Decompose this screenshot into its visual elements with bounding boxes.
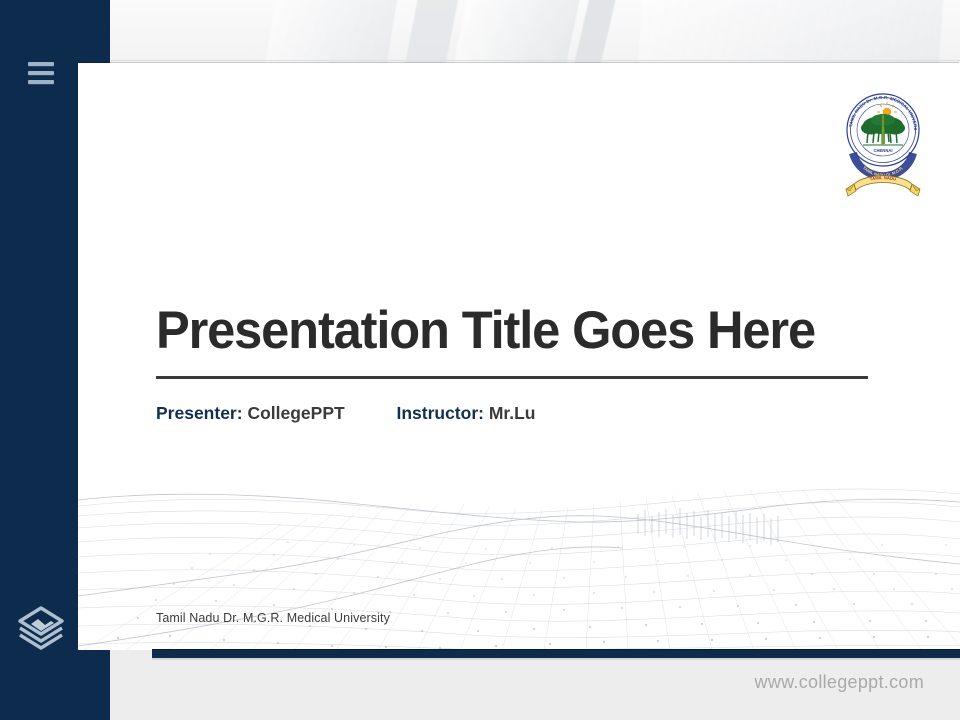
hamburger-line-3 [28, 80, 54, 84]
page-title: Presentation Title Goes Here [156, 303, 838, 359]
seal-ring-text-bottom: CHENNAI [873, 148, 892, 153]
ribbon-shape-5 [633, 0, 948, 64]
hamburger-line-2 [28, 71, 54, 75]
top-decorative-band [110, 0, 960, 64]
instructor-value: Mr.Lu [489, 403, 536, 423]
slide-footer-text: Tamil Nadu Dr. M.G.R. Medical University [156, 611, 390, 625]
title-underline-rule [156, 376, 868, 379]
bottom-navy-strip-shadow [152, 658, 960, 660]
slide-canvas[interactable]: THE TAMIL NADU Dr. M.G.R. MEDICAL UNIVER… [78, 63, 960, 650]
university-seal-logo: THE TAMIL NADU Dr. M.G.R. MEDICAL UNIVER… [838, 85, 928, 210]
instructor-label: Instructor: [396, 403, 484, 423]
app-window: THE TAMIL NADU Dr. M.G.R. MEDICAL UNIVER… [0, 0, 960, 720]
presenter-label: Presenter: [156, 403, 243, 423]
ribbon-shape-3 [438, 0, 591, 64]
ribbon-banner: TAMIL NADU [846, 175, 920, 196]
footer-url: www.collegeppt.com [755, 672, 924, 693]
layers-stack-icon [14, 600, 68, 654]
band-hairline [110, 60, 960, 61]
hamburger-menu-button[interactable] [28, 62, 54, 84]
ribbon-shape-1 [254, 0, 407, 64]
hamburger-line-1 [28, 62, 54, 66]
byline: Presenter: CollegePPT Instructor: Mr.Lu [156, 403, 536, 424]
layers-stack-button[interactable] [14, 600, 68, 654]
presenter-value: CollegePPT [247, 403, 344, 423]
bottom-navy-strip [152, 649, 960, 658]
